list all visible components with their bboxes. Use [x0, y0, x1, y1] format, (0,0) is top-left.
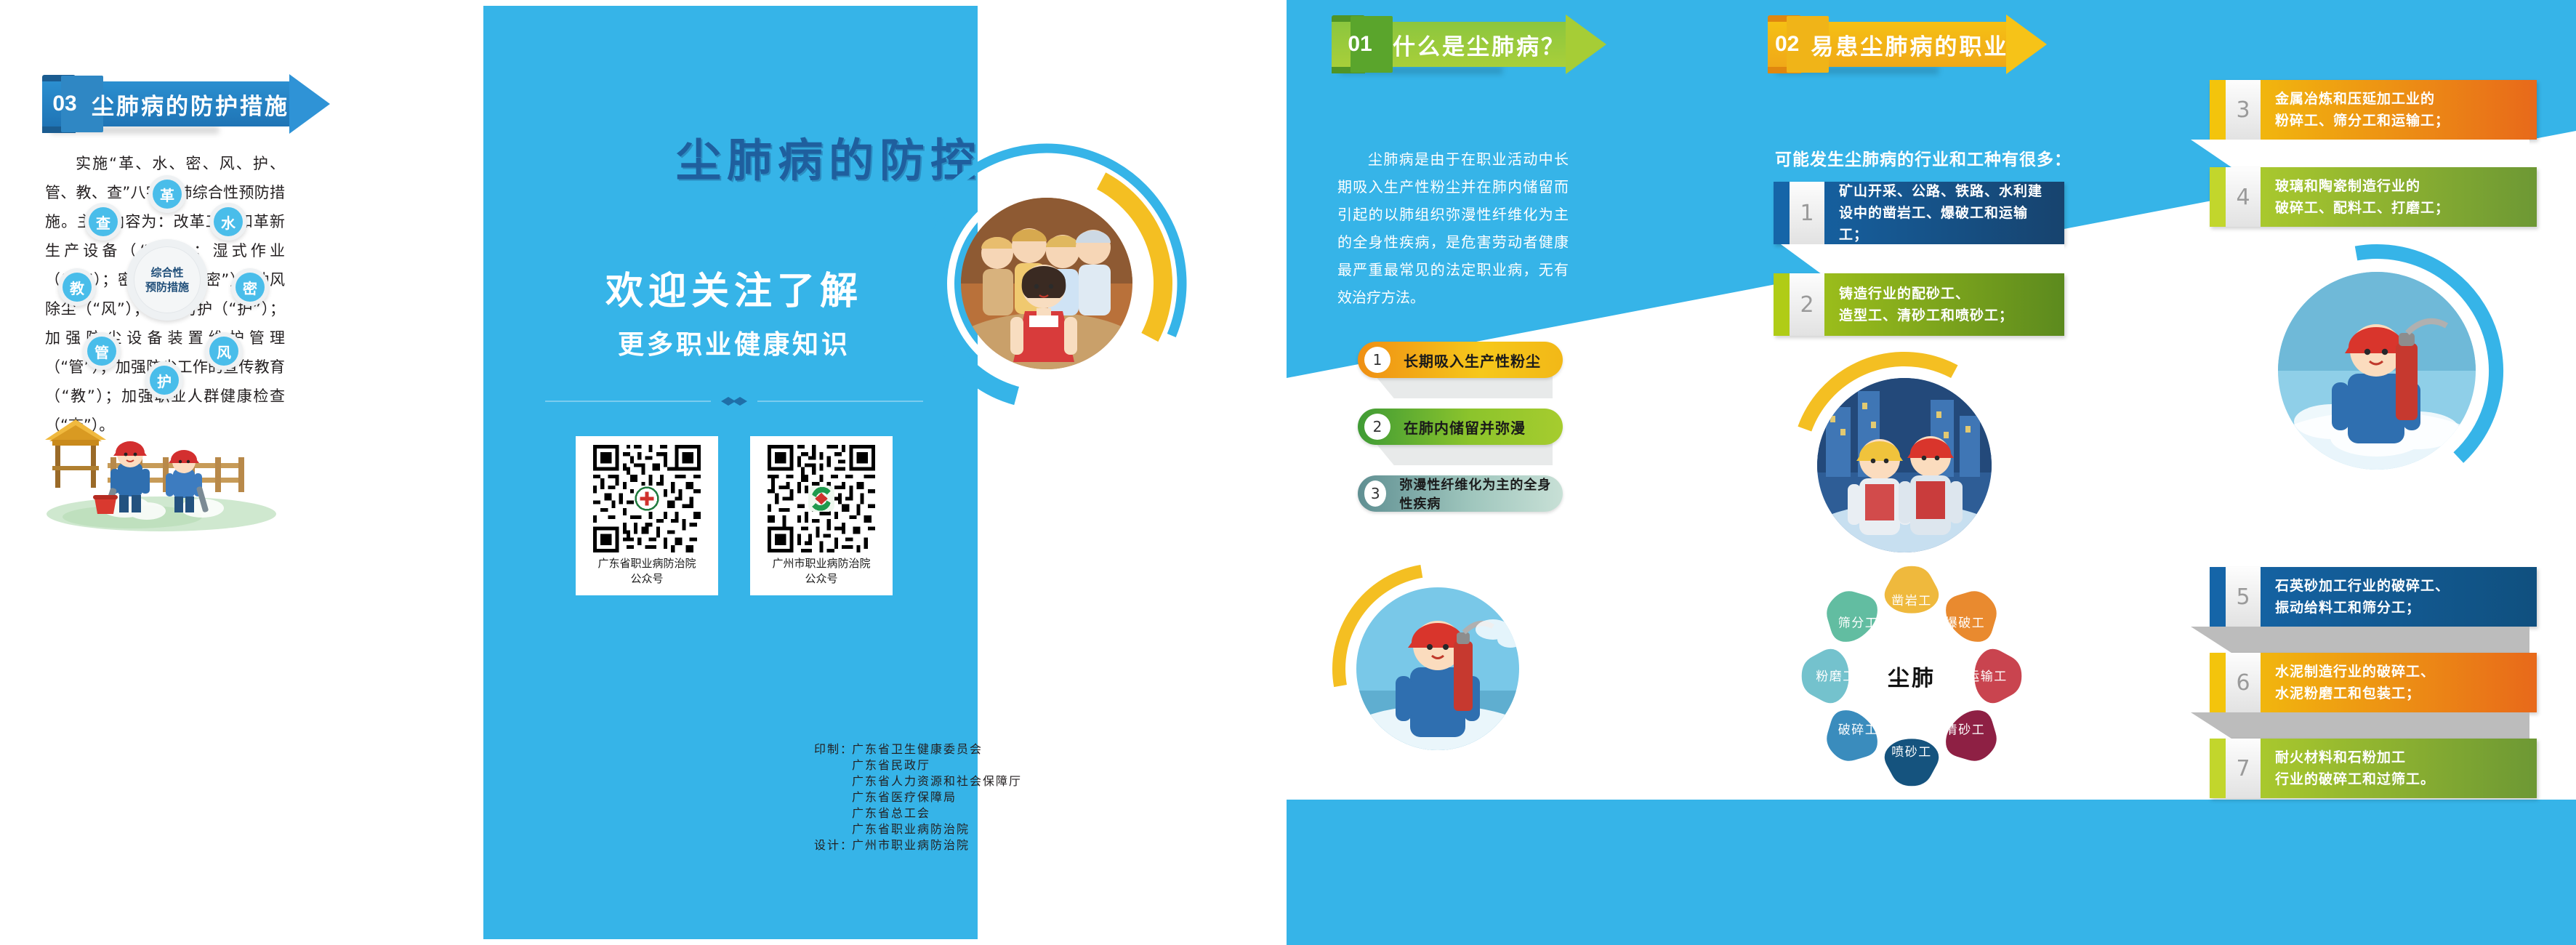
banner-body: 03 尘肺病的防护措施 — [42, 81, 289, 126]
svg-text:凿岩工: 凿岩工 — [1891, 594, 1932, 608]
credit-row: 广东省民政厅 — [814, 757, 1163, 773]
bar-number: 3 — [2226, 80, 2261, 140]
credit-row: 广东省总工会 — [814, 805, 1163, 821]
section-number: 02 — [1775, 22, 1799, 67]
section-number: 01 — [1339, 22, 1381, 67]
point-number: 2 — [1364, 414, 1390, 440]
qr-code-image-guangzhou — [768, 445, 875, 552]
bar-text: 铸造行业的配砂工、 造型工、清砂工和喷砂工； — [1824, 283, 2064, 326]
bubble-center: 综合性 预防措施 — [126, 239, 208, 321]
bar-connector — [1781, 244, 2064, 273]
credit-row: 广东省人力资源和社会保障厅 — [814, 773, 1163, 789]
credit-row: 广东省医疗保障局 — [814, 789, 1163, 805]
bubble-node-mi: 密 — [231, 268, 269, 306]
occupation-bar-7: 7 耐火材料和石粉加工 行业的破碎工和过筛工。 — [2210, 739, 2537, 798]
qr-code-group: 广东省职业病防治院 公众号 — [545, 436, 923, 595]
point-number: 1 — [1364, 347, 1390, 373]
bar-text: 玻璃和陶瓷制造行业的 破碎工、配料工、打磨工； — [2261, 175, 2537, 219]
bar-edge — [2210, 167, 2226, 227]
banner-arrow-tip-icon — [289, 74, 330, 134]
bar-text: 矿山开采、公路、铁路、水利建 设中的凿岩工、爆破工和运输工； — [1824, 180, 2064, 246]
bar-edge — [2210, 739, 2226, 798]
qr-code-image-guangdong — [593, 445, 701, 552]
bar-connector — [2191, 712, 2529, 739]
point-text: 弥漫性纤维化为主的全身性疾病 — [1399, 475, 1563, 512]
middle-panel: 欢迎关注了解 更多职业健康知识 — [436, 0, 1221, 945]
bar-text: 耐火材料和石粉加工 行业的破碎工和过筛工。 — [2261, 747, 2537, 790]
welcome-line-2: 更多职业健康知识 — [531, 323, 938, 361]
occupation-bar-5: 5 石英砂加工行业的破碎工、 振动给料工和筛分工； — [2210, 567, 2537, 627]
section-title: 尘肺病的防护措施 — [92, 88, 289, 121]
banner-arrow-tip-icon — [2006, 15, 2047, 74]
occupation-bar-1: 1 矿山开采、公路、铁路、水利建 设中的凿岩工、爆破工和运输工； — [1774, 182, 2064, 244]
section01-paragraph: 尘肺病是由于在职业活动中长期吸入生产性粉尘并在肺内储留而引起的以肺组织弥漫性纤维… — [1337, 145, 1569, 311]
svg-text:筛分工: 筛分工 — [1838, 616, 1879, 630]
banner-body: 01 什么是尘肺病？ — [1332, 22, 1566, 67]
petal-center-label: 尘肺 — [1861, 660, 1963, 692]
occupation-bar-6: 6 水泥制造行业的破碎工、 水泥粉磨工和包装工； — [2210, 653, 2537, 712]
svg-text:清砂工: 清砂工 — [1945, 723, 1986, 738]
section-title: 什么是尘肺病？ — [1393, 28, 1566, 61]
bar-edge — [1774, 182, 1790, 244]
occupation-bar-3: 3 金属冶炼和压延加工业的 粉碎工、筛分工和运输工； — [2210, 80, 2537, 140]
point-text: 长期吸入生产性粉尘 — [1404, 350, 1541, 371]
bar-number: 4 — [2226, 167, 2261, 227]
point-text: 在肺内储留并弥漫 — [1404, 417, 1526, 438]
prevention-bubble-wheel: 综合性 预防措施 革 水 密 风 护 管 教 查 — [44, 171, 291, 389]
occupation-list-column: 3 金属冶炼和压延加工业的 粉碎工、筛分工和运输工； 4 玻璃和陶瓷制造行业的 … — [2195, 0, 2573, 945]
bar-number: 2 — [1790, 273, 1824, 336]
cover-circle-graphic — [901, 131, 1207, 472]
point-pill-1: 1 长期吸入生产性粉尘 — [1358, 342, 1563, 378]
occupation-bar-4: 4 玻璃和陶瓷制造行业的 破碎工、配料工、打磨工； — [2210, 167, 2537, 227]
svg-text:爆破工: 爆破工 — [1945, 616, 1986, 630]
bar-connector — [2191, 140, 2529, 167]
bubble-node-feng: 风 — [205, 332, 243, 370]
point-number: 3 — [1364, 480, 1386, 507]
qr-caption-guangzhou: 广州市职业病防治院 公众号 — [759, 552, 884, 592]
bar-number: 1 — [1790, 182, 1824, 244]
occupation-petal-wheel: 凿岩工 爆破工 运输工 — [1744, 538, 2079, 843]
bar-edge — [1774, 273, 1790, 336]
section-title: 易患尘肺病的职业 — [1811, 28, 2008, 61]
decorative-divider — [545, 396, 923, 406]
svg-text:粉磨工: 粉磨工 — [1816, 669, 1856, 684]
credit-row: 广东省职业病防治院 — [814, 821, 1163, 837]
svg-text:喷砂工: 喷砂工 — [1891, 745, 1932, 760]
point-pill-3: 3 弥漫性纤维化为主的全身性疾病 — [1358, 475, 1563, 512]
qr-card-guangdong: 广东省职业病防治院 公众号 — [576, 436, 718, 595]
section02-intro: 可能发生尘肺病的行业和工种有很多： — [1775, 145, 2080, 174]
credit-row: 设计：广州市职业病防治院 — [814, 837, 1163, 853]
qr-caption-guangdong: 广东省职业病防治院 公众号 — [584, 552, 709, 592]
worker-photo-circle-right — [2246, 240, 2508, 502]
right-panel: 01 什么是尘肺病？ 尘肺病是由于在职业活动中长期吸入生产性粉尘并在肺内储留而引… — [1287, 0, 2576, 945]
welcome-line-1: 欢迎关注了解 — [531, 260, 938, 315]
bar-number: 6 — [2226, 653, 2261, 712]
left-panel: 03 尘肺病的防护措施 实施“革、水、密、风、护、管、教、查”八字尘肺综合性预防… — [0, 0, 436, 945]
section-banner-03: 03 尘肺病的防护措施 — [42, 81, 282, 126]
bubble-node-guan: 管 — [83, 332, 121, 370]
workers-illustration — [38, 396, 285, 534]
bubble-center-label: 综合性 预防措施 — [134, 246, 201, 313]
bar-edge — [2210, 567, 2226, 627]
qr-card-guangzhou: 广州市职业病防治院 公众号 — [750, 436, 893, 595]
credits-block: 印制：广东省卫生健康委员会 广东省民政厅 广东省人力资源和社会保障厅 广东省医疗… — [814, 741, 1163, 853]
bubble-node-cha: 查 — [84, 203, 122, 241]
welcome-block: 欢迎关注了解 更多职业健康知识 — [531, 260, 938, 361]
svg-text:运输工: 运输工 — [1967, 669, 2008, 684]
bar-text: 石英砂加工行业的破碎工、 振动给料工和筛分工； — [2261, 575, 2537, 619]
bubble-node-ge: 革 — [148, 175, 186, 213]
bar-edge — [2210, 653, 2226, 712]
svg-text:破碎工: 破碎工 — [1838, 723, 1879, 738]
section-number: 03 — [49, 81, 80, 126]
bubble-node-hu: 护 — [145, 361, 183, 399]
bubble-node-jiao: 教 — [58, 268, 96, 306]
worker-photo-circle-left — [1329, 560, 1547, 778]
occupation-bar-2: 2 铸造行业的配砂工、 造型工、清砂工和喷砂工； — [1774, 273, 2064, 336]
bar-number: 7 — [2226, 739, 2261, 798]
bar-text: 金属冶炼和压延加工业的 粉碎工、筛分工和运输工； — [2261, 88, 2537, 132]
point-pill-2: 2 在肺内储留并弥漫 — [1358, 409, 1563, 445]
section-banner-01: 01 什么是尘肺病？ — [1332, 22, 1563, 67]
section02-column: 02 易患尘肺病的职业 可能发生尘肺病的行业和工种有很多： 1 矿山开采、公路、… — [1730, 0, 2122, 945]
credit-row: 印制：广东省卫生健康委员会 — [814, 741, 1163, 757]
bar-connector — [2191, 627, 2529, 653]
bar-text: 水泥制造行业的破碎工、 水泥粉磨工和包装工； — [2261, 661, 2537, 704]
bar-number: 5 — [2226, 567, 2261, 627]
banner-arrow-tip-icon — [1566, 15, 1606, 74]
bar-edge — [2210, 80, 2226, 140]
bubble-node-shui: 水 — [209, 203, 247, 241]
section-banner-02: 02 易患尘肺病的职业 — [1768, 22, 1999, 67]
